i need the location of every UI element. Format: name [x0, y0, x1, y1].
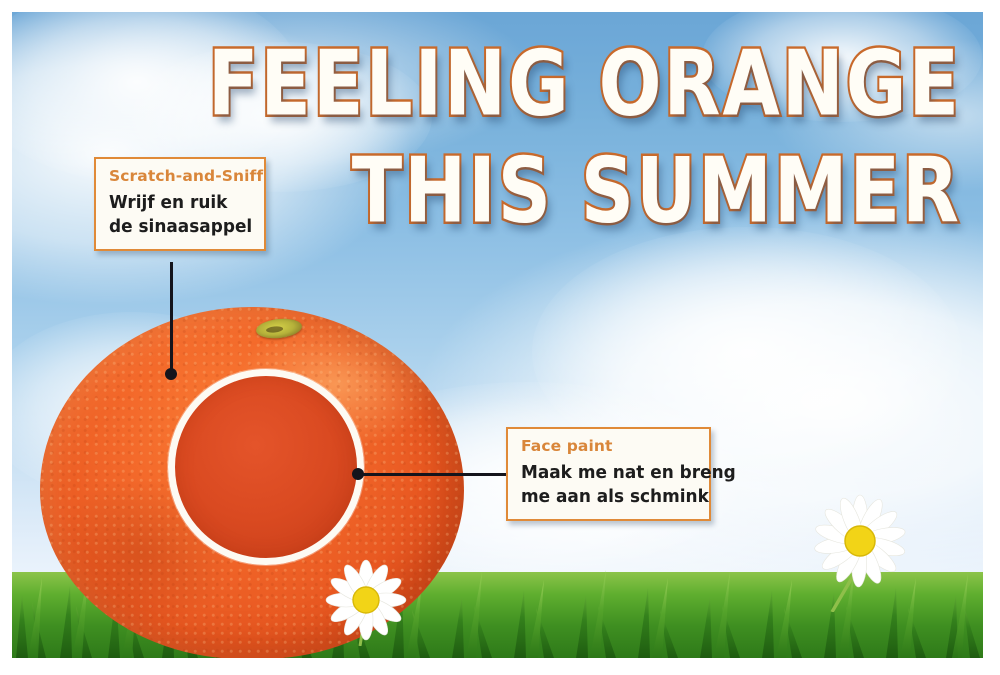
callout-scratch-and-sniff[interactable]: Scratch-and-Sniff Wrijf en ruik de sinaa… [94, 157, 266, 251]
callout-body-line: Maak me nat en breng [521, 461, 686, 485]
scratch-and-sniff-spot[interactable] [168, 369, 364, 565]
callout-title-face-paint: Face paint [521, 438, 696, 456]
poster: FEELING ORANGE THIS SUMMER Scratch-and-S… [0, 0, 1000, 675]
leader-line-face-paint [358, 473, 508, 476]
callout-face-paint[interactable]: Face paint Maak me nat en breng me aan a… [506, 427, 711, 521]
daisy-flower-left [312, 550, 420, 646]
callout-body-line: de sinaasappel [109, 215, 242, 239]
callout-body-line: me aan als schmink [521, 485, 686, 509]
poster-photo: FEELING ORANGE THIS SUMMER Scratch-and-S… [12, 12, 983, 658]
leader-dot-scratch-and-sniff [165, 368, 177, 380]
daisy-flower-right [802, 492, 922, 612]
leader-dot-face-paint [352, 468, 364, 480]
leader-line-scratch-and-sniff [170, 262, 173, 374]
callout-title-scratch-and-sniff: Scratch-and-Sniff [109, 168, 251, 186]
callout-body-line: Wrijf en ruik [109, 191, 242, 215]
